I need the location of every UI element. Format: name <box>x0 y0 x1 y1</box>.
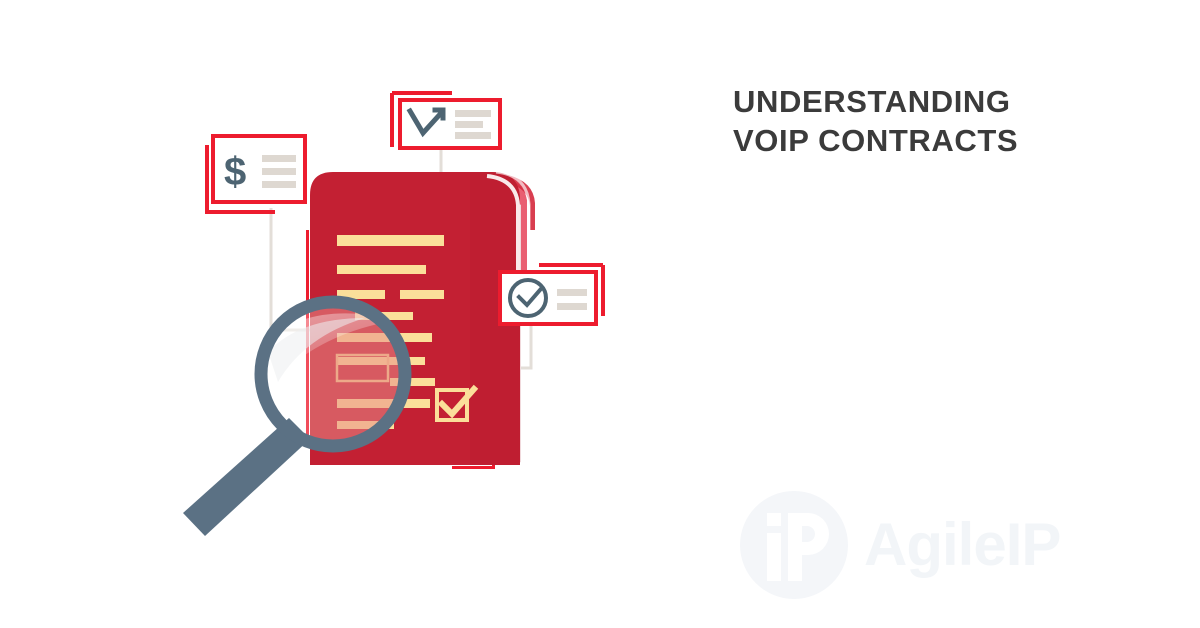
doc-line-3b <box>400 290 444 299</box>
doc-line-2 <box>337 265 426 274</box>
term-card <box>500 265 603 324</box>
dollar-sign-icon: $ <box>224 150 246 194</box>
doc-line-1 <box>337 235 444 246</box>
bracket-bottom-horizontal <box>452 466 495 469</box>
page-title-line-2: VOIP CONTRACTS <box>733 121 1163 160</box>
cost-card: $ <box>207 136 305 212</box>
brand-watermark: AgileIP <box>740 487 1160 602</box>
svg-text:$: $ <box>224 150 246 194</box>
cost-card-lines <box>262 155 296 188</box>
contract-review-illustration: $ <box>0 0 700 628</box>
magnifying-glass <box>183 302 405 536</box>
trend-card <box>392 93 500 148</box>
page-title-line-1: UNDERSTANDING <box>733 82 1163 121</box>
poster-canvas: $ <box>0 0 1200 628</box>
page-title: UNDERSTANDING VOIP CONTRACTS <box>733 82 1163 160</box>
brand-watermark-text: AgileIP <box>864 515 1060 575</box>
ip-circle-logo-icon <box>740 491 848 599</box>
